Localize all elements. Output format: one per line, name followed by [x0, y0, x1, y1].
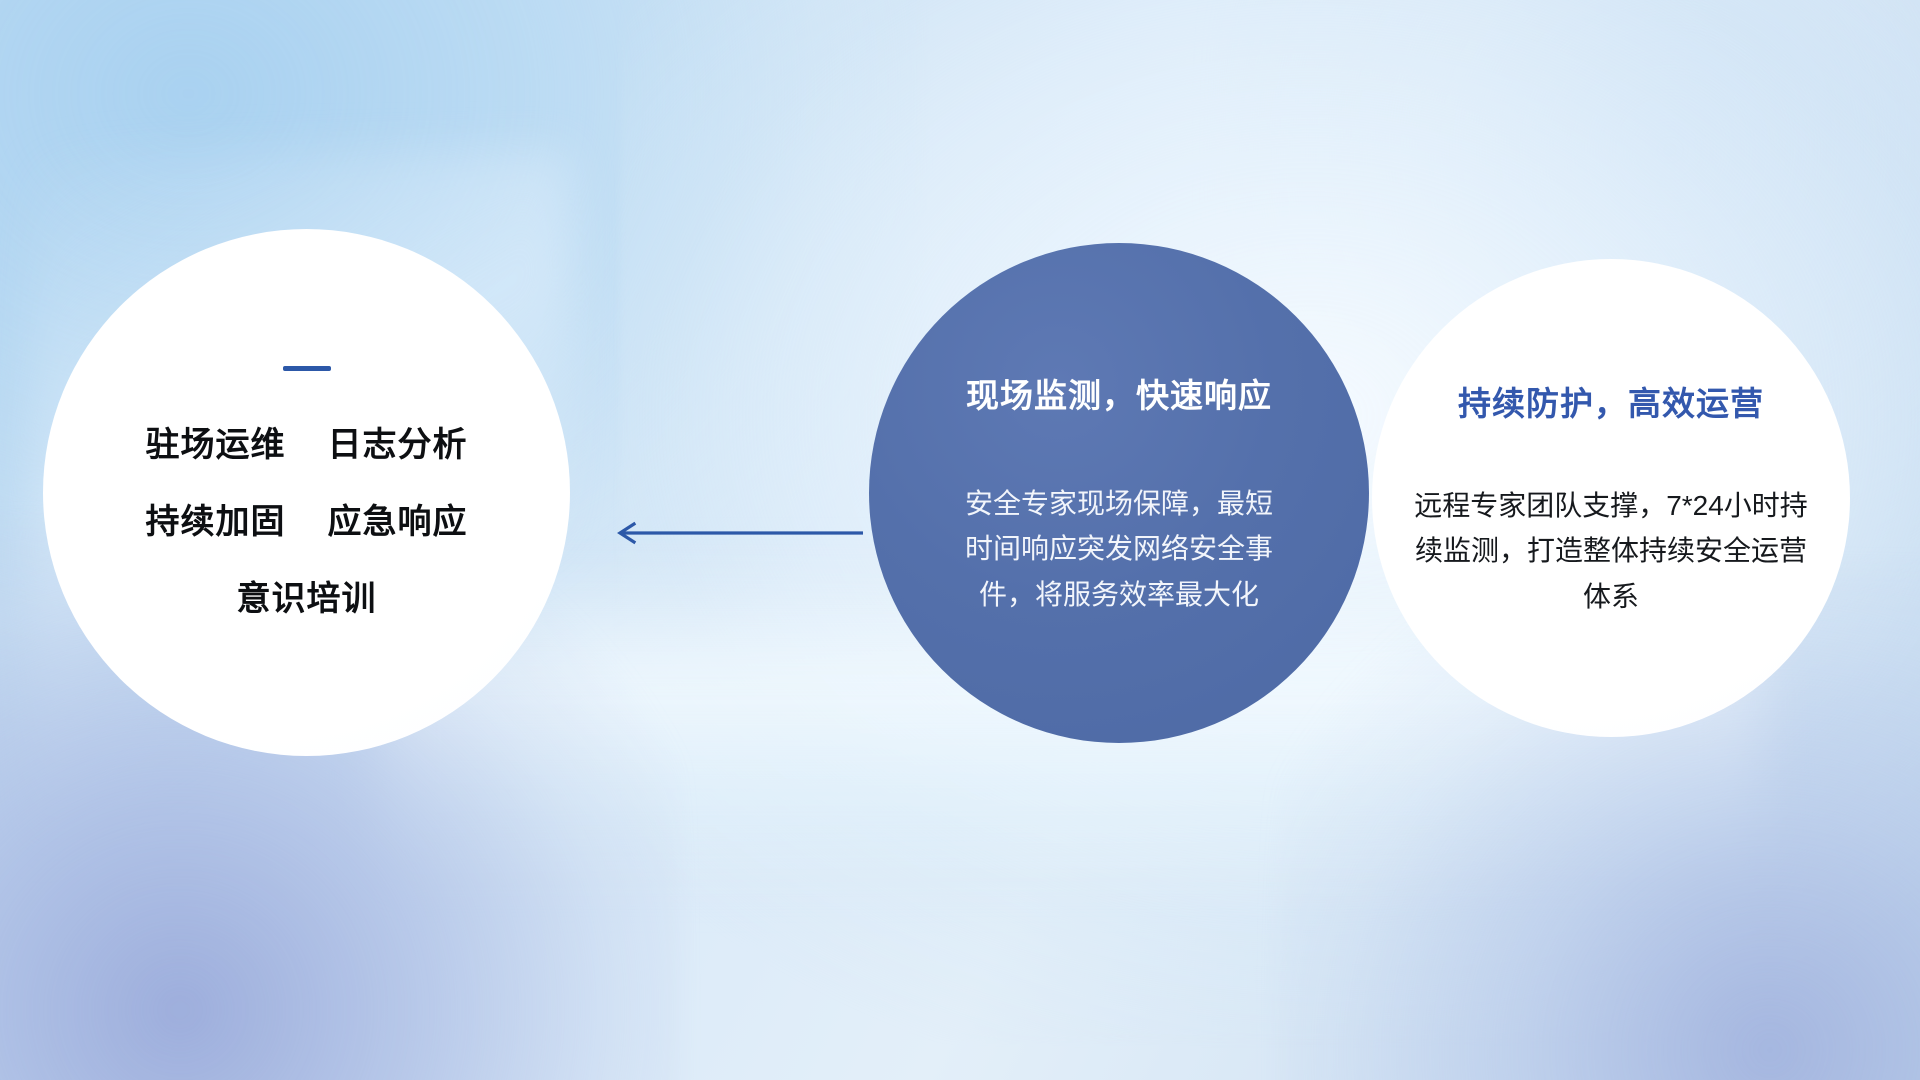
keyword-item[interactable]: 意识培训 — [237, 571, 377, 620]
card-title: 现场监测，快速响应 — [966, 369, 1272, 417]
card-body: 远程专家团队支撑，7*24小时持续监测，打造整体持续安全运营体系 — [1413, 483, 1809, 619]
keyword-item[interactable]: 应急响应 — [328, 494, 468, 543]
card-body: 安全专家现场保障，最短时间响应突发网络安全事件，将服务效率最大化 — [954, 481, 1284, 617]
title-divider-dash — [283, 366, 331, 371]
keyword-row: 持续加固 应急响应 — [146, 494, 468, 543]
keyword-item[interactable]: 持续加固 — [146, 494, 286, 543]
capabilities-circle[interactable]: 驻场运维 日志分析 持续加固 应急响应 意识培训 — [43, 229, 570, 756]
continuous-protection-circle[interactable]: 持续防护，高效运营 远程专家团队支撑，7*24小时持续监测，打造整体持续安全运营… — [1372, 259, 1850, 737]
card-title: 持续防护，高效运营 — [1458, 377, 1764, 425]
keyword-row: 意识培训 — [237, 571, 377, 620]
onsite-monitoring-circle[interactable]: 现场监测，快速响应 安全专家现场保障，最短时间响应突发网络安全事件，将服务效率最… — [869, 243, 1369, 743]
slide-canvas: 驻场运维 日志分析 持续加固 应急响应 意识培训 现场监测，快速响应 安全专家现… — [0, 0, 1920, 1080]
left-pointing-arrow-icon — [600, 520, 865, 546]
keyword-list: 驻场运维 日志分析 持续加固 应急响应 意识培训 — [146, 417, 468, 620]
keyword-item[interactable]: 驻场运维 — [146, 417, 286, 466]
keyword-row: 驻场运维 日志分析 — [146, 417, 468, 466]
keyword-item[interactable]: 日志分析 — [328, 417, 468, 466]
